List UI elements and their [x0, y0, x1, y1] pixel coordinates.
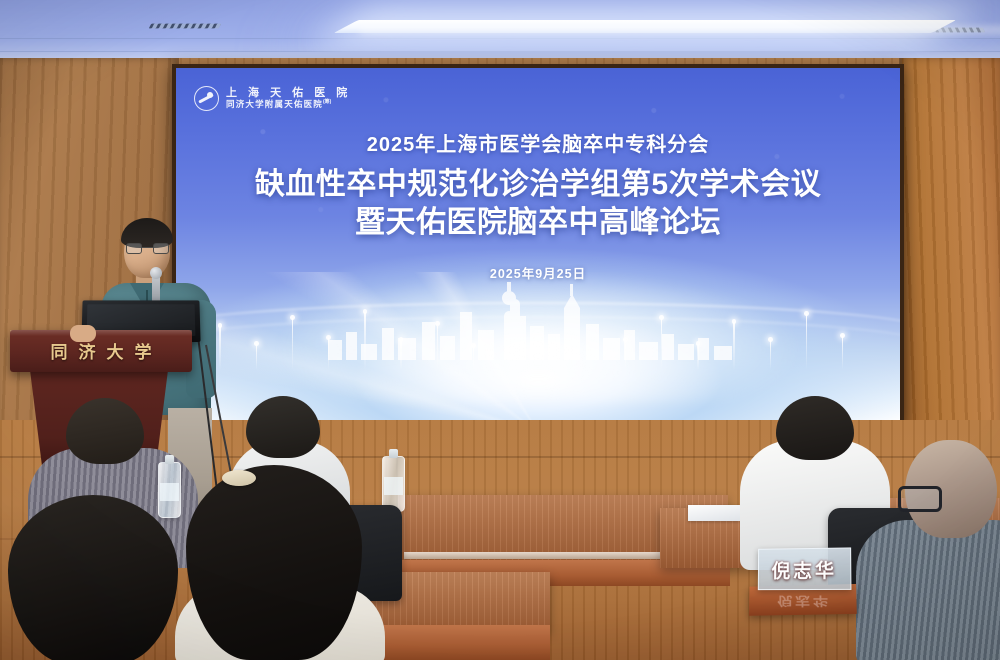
speaker-glasses-icon — [126, 243, 169, 254]
audience-member-6-shoulders — [856, 520, 1000, 660]
slide-subtitle: 2025年上海市医学会脑卒中专科分会 — [176, 128, 900, 157]
projection-screen: 上 海 天 佑 医 院 同济大学附属天佑医院(筹) 2025年上海市医学会脑卒中… — [176, 68, 900, 422]
projection-screen-frame: 上 海 天 佑 医 院 同济大学附属天佑医院(筹) 2025年上海市医学会脑卒中… — [172, 64, 904, 426]
slide-title: 缺血性卒中规范化诊治学组第5次学术会议 暨天佑医院脑卒中高峰论坛 — [176, 166, 900, 243]
conference-room-photo: 上 海 天 佑 医 院 同济大学附属天佑医院(筹) 2025年上海市医学会脑卒中… — [0, 0, 1000, 660]
right-wall-panel — [902, 58, 1000, 478]
podium-university-label: 同济大学 — [10, 338, 192, 363]
audience-member-4-hair — [8, 495, 178, 660]
name-plate-text: 倪志华 — [771, 555, 837, 582]
hair-bow-accessory — [222, 470, 256, 486]
water-bottle-2 — [382, 456, 405, 512]
audience-member-2-head — [246, 396, 320, 458]
slide-title-line1: 缺血性卒中规范化诊治学组第5次学术会议 — [255, 168, 821, 201]
hospital-emblem-icon — [194, 86, 219, 111]
water-bottle-1 — [158, 462, 181, 518]
name-plate-reflection: 倪志华 — [761, 592, 848, 610]
hospital-logo: 上 海 天 佑 医 院 同济大学附属天佑医院(筹) — [194, 86, 351, 111]
skyline-glow — [278, 272, 798, 402]
audience-member-3-hair — [186, 465, 362, 660]
logo-superscript: (筹) — [323, 99, 331, 105]
podium-front-panel: 同济大学 — [10, 330, 192, 372]
audience-member-6-glasses-icon — [898, 486, 942, 512]
logo-line2: 同济大学附属天佑医院(筹) — [226, 100, 351, 110]
ceiling-light-glow — [360, 27, 1000, 33]
slide-title-block: 2025年上海市医学会脑卒中专科分会 缺血性卒中规范化诊治学组第5次学术会议 暨… — [176, 128, 900, 282]
slide-title-line2: 暨天佑医院脑卒中高峰论坛 — [176, 204, 900, 242]
name-plate: 倪志华 — [758, 547, 852, 590]
air-vent-left-icon — [149, 24, 222, 29]
speaker-hand — [70, 325, 96, 342]
desk-papers — [688, 505, 740, 521]
